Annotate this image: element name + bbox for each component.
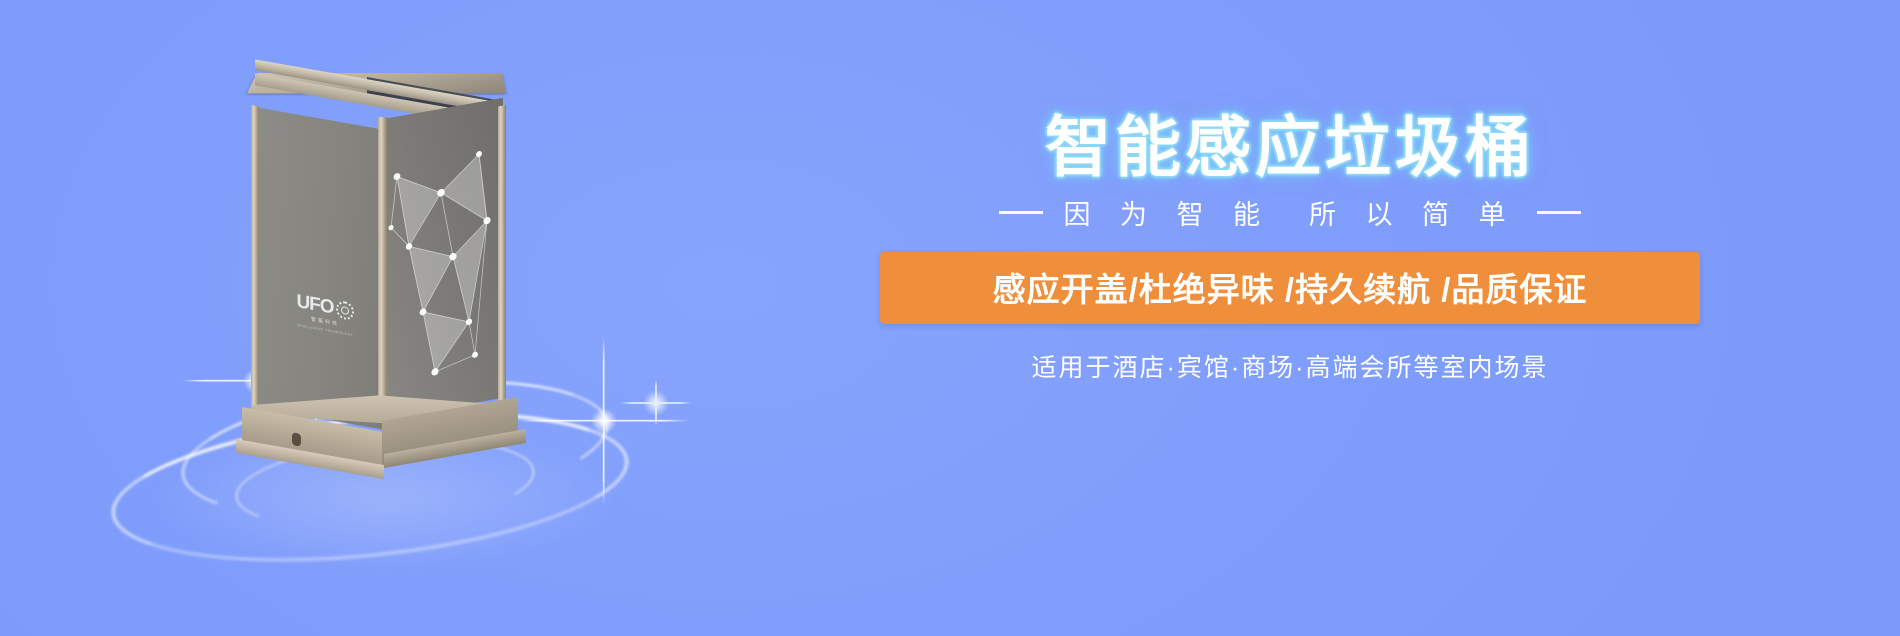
bin-edge-front — [378, 117, 387, 423]
bin-face-right-glass — [383, 98, 503, 419]
smart-trash-bin: UFO 智能科技 INTELLIGENT TECHNOLOGY — [230, 55, 530, 455]
copy-block: 智能感应垃圾桶 因 为 智 能 所 以 简 单 感应开盖/杜绝异味 /持久续航 … — [880, 112, 1700, 384]
use-case-text: 适用于酒店·宾馆·商场·高端会所等室内场景 — [880, 348, 1700, 384]
rule-left — [999, 211, 1043, 214]
banner-title: 智能感应垃圾桶 — [880, 112, 1700, 183]
bin-edge-left — [251, 105, 259, 410]
bin-edge-right — [498, 105, 506, 410]
rule-right — [1537, 211, 1581, 214]
sparkle-icon — [655, 402, 656, 403]
sparkle-icon — [603, 420, 604, 421]
polygon-network-graphic — [383, 98, 503, 419]
promo-banner: UFO 智能科技 INTELLIGENT TECHNOLOGY 智能感应垃圾桶 … — [0, 0, 1900, 636]
feature-highlight-bar: 感应开盖/杜绝异味 /持久续航 /品质保证 — [880, 252, 1700, 324]
product-image: UFO 智能科技 INTELLIGENT TECHNOLOGY — [175, 55, 595, 475]
banner-subtitle-row: 因 为 智 能 所 以 简 单 — [880, 193, 1700, 232]
brand-logo-ring-icon — [336, 299, 354, 320]
banner-subtitle: 因 为 智 能 所 以 简 单 — [1063, 193, 1516, 232]
bin-face-left — [255, 107, 383, 430]
bin-base-slot — [292, 432, 301, 447]
